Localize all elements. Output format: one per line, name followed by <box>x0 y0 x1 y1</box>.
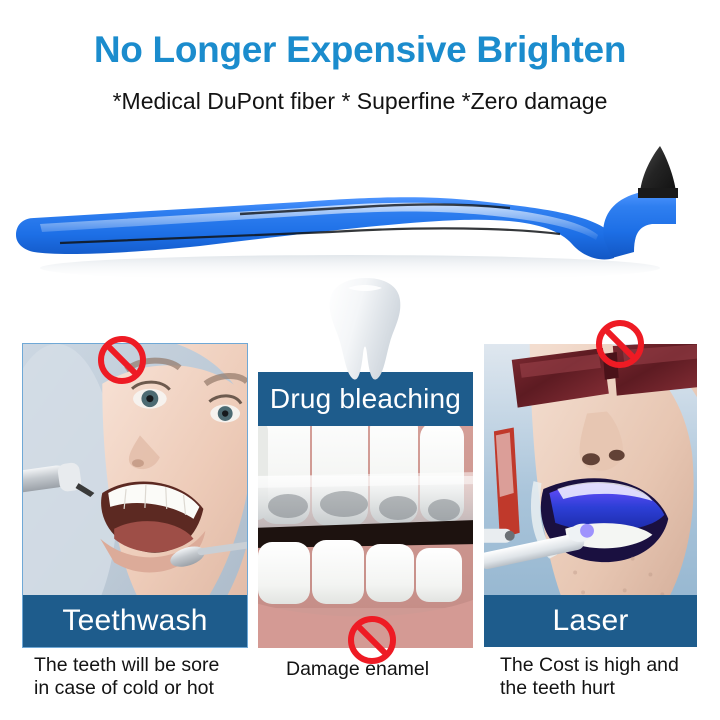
page-headline: No Longer Expensive Brighten <box>0 30 720 71</box>
caption-line: The Cost is high and <box>500 654 715 677</box>
panel-drug-bleaching[interactable]: Drug bleaching <box>258 372 473 648</box>
lower-teeth <box>258 540 462 604</box>
prohibition-icon-drug-bleaching <box>346 614 398 666</box>
caption-line: the teeth hurt <box>500 677 715 700</box>
panel-teethwash[interactable]: Teethwash <box>22 343 248 648</box>
panel-label-laser: Laser <box>484 595 697 647</box>
caption-teethwash: The teeth will be sore in case of cold o… <box>34 654 254 701</box>
prohibition-icon-teethwash <box>96 334 148 386</box>
product-tip-collar <box>638 188 678 198</box>
prohibition-icon-laser <box>594 318 646 370</box>
product-handle <box>16 197 614 259</box>
caption-laser: The Cost is high and the teeth hurt <box>500 654 715 701</box>
product-image <box>0 140 720 290</box>
caption-line: in case of cold or hot <box>34 677 254 700</box>
product-neck <box>603 192 676 258</box>
tooth-icon <box>328 276 404 382</box>
product-illustration <box>0 140 720 290</box>
panel-laser[interactable]: Laser <box>483 343 698 648</box>
page-subheadline: *Medical DuPont fiber * Superfine *Zero … <box>0 88 720 114</box>
caption-line: The teeth will be sore <box>34 654 254 677</box>
panel-label-teethwash: Teethwash <box>23 595 247 647</box>
tooth-shape <box>330 278 401 380</box>
